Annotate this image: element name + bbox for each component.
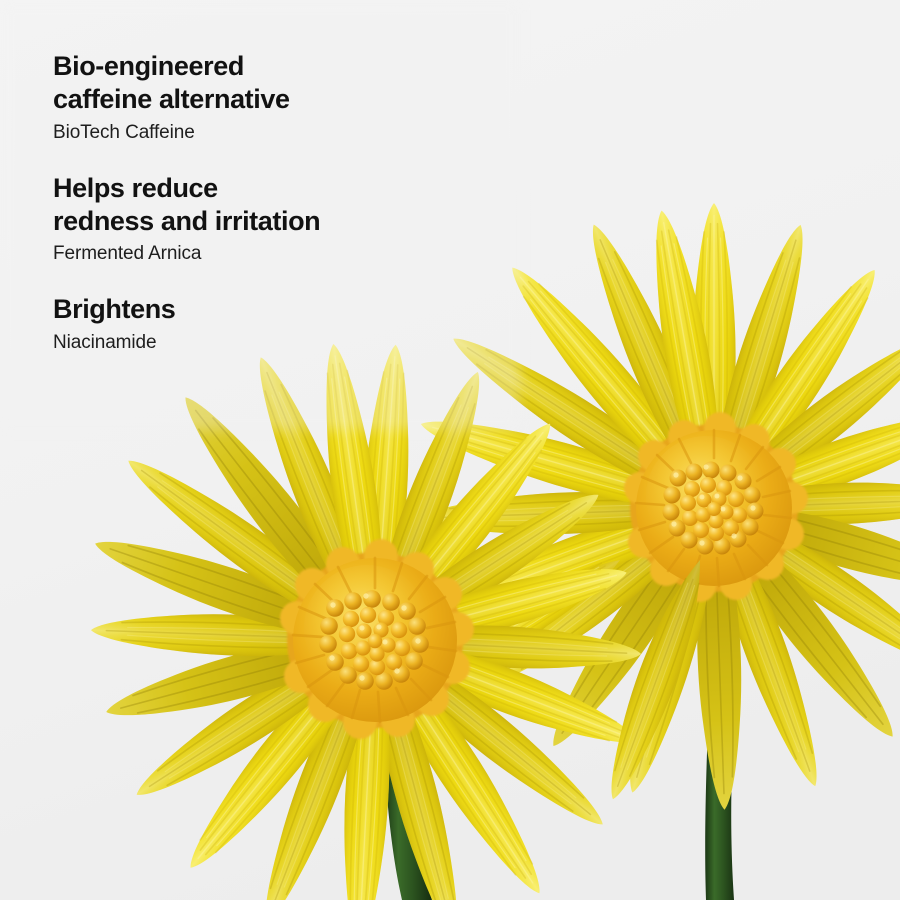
benefit-list: Bio-engineered caffeine alternative BioT… xyxy=(53,50,483,356)
benefit-ingredient-3: Niacinamide xyxy=(53,331,483,356)
benefit-item-3: Brightens Niacinamide xyxy=(53,293,483,356)
benefit-title-3: Brightens xyxy=(53,293,483,326)
product-benefits-card: Bio-engineered caffeine alternative BioT… xyxy=(0,0,900,900)
benefit-item-1: Bio-engineered caffeine alternative BioT… xyxy=(53,50,483,146)
benefit-title-2: Helps reduce redness and irritation xyxy=(53,172,483,238)
benefit-title-1: Bio-engineered caffeine alternative xyxy=(53,50,483,116)
benefit-ingredient-1: BioTech Caffeine xyxy=(53,121,483,146)
benefit-item-2: Helps reduce redness and irritation Ferm… xyxy=(53,172,483,268)
benefit-ingredient-2: Fermented Arnica xyxy=(53,242,483,267)
